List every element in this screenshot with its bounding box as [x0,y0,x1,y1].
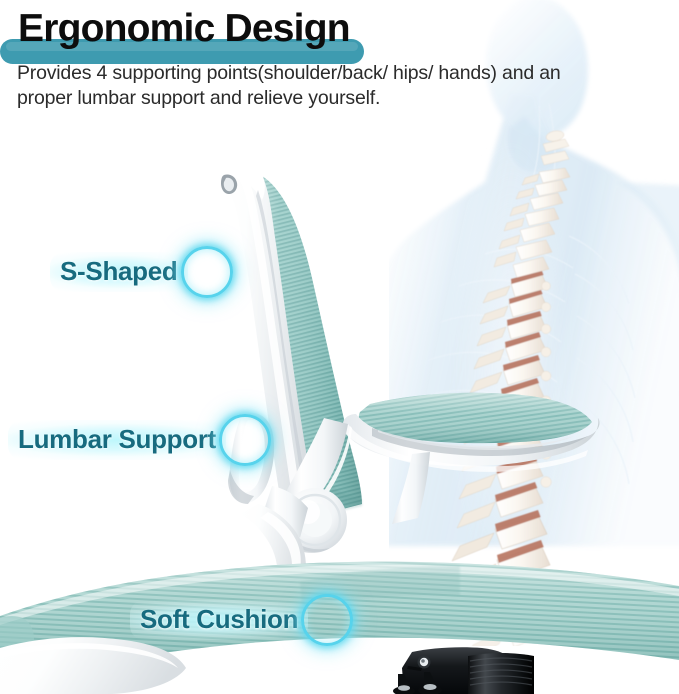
callout-soft-cushion-label: Soft Cushion [130,600,308,640]
armrest [285,393,600,524]
highlight-ring-icon [216,411,274,469]
backrest-lower-linkage [240,486,308,588]
callout-lumbar-support-label: Lumbar Support [8,420,226,460]
page-title: Ergonomic Design [18,6,350,52]
page-title-wrap: Ergonomic Design [0,6,364,52]
callout-s-shaped-label: S-Shaped [50,252,188,292]
chair-base-mechanism [393,647,534,694]
page-subtitle: Provides 4 supporting points(shoulder/ba… [17,61,617,111]
armrest-pivot [283,488,347,553]
highlight-ring-icon [298,591,356,649]
header: Ergonomic Design Provides 4 supporting p… [0,0,679,111]
product-feature-graphic: Ergonomic Design Provides 4 supporting p… [0,0,679,694]
highlight-ring-icon [178,243,236,301]
callout-lumbar-support: Lumbar Support [8,412,274,468]
callout-s-shaped: S-Shaped [50,244,236,300]
callout-soft-cushion: Soft Cushion [130,592,356,648]
